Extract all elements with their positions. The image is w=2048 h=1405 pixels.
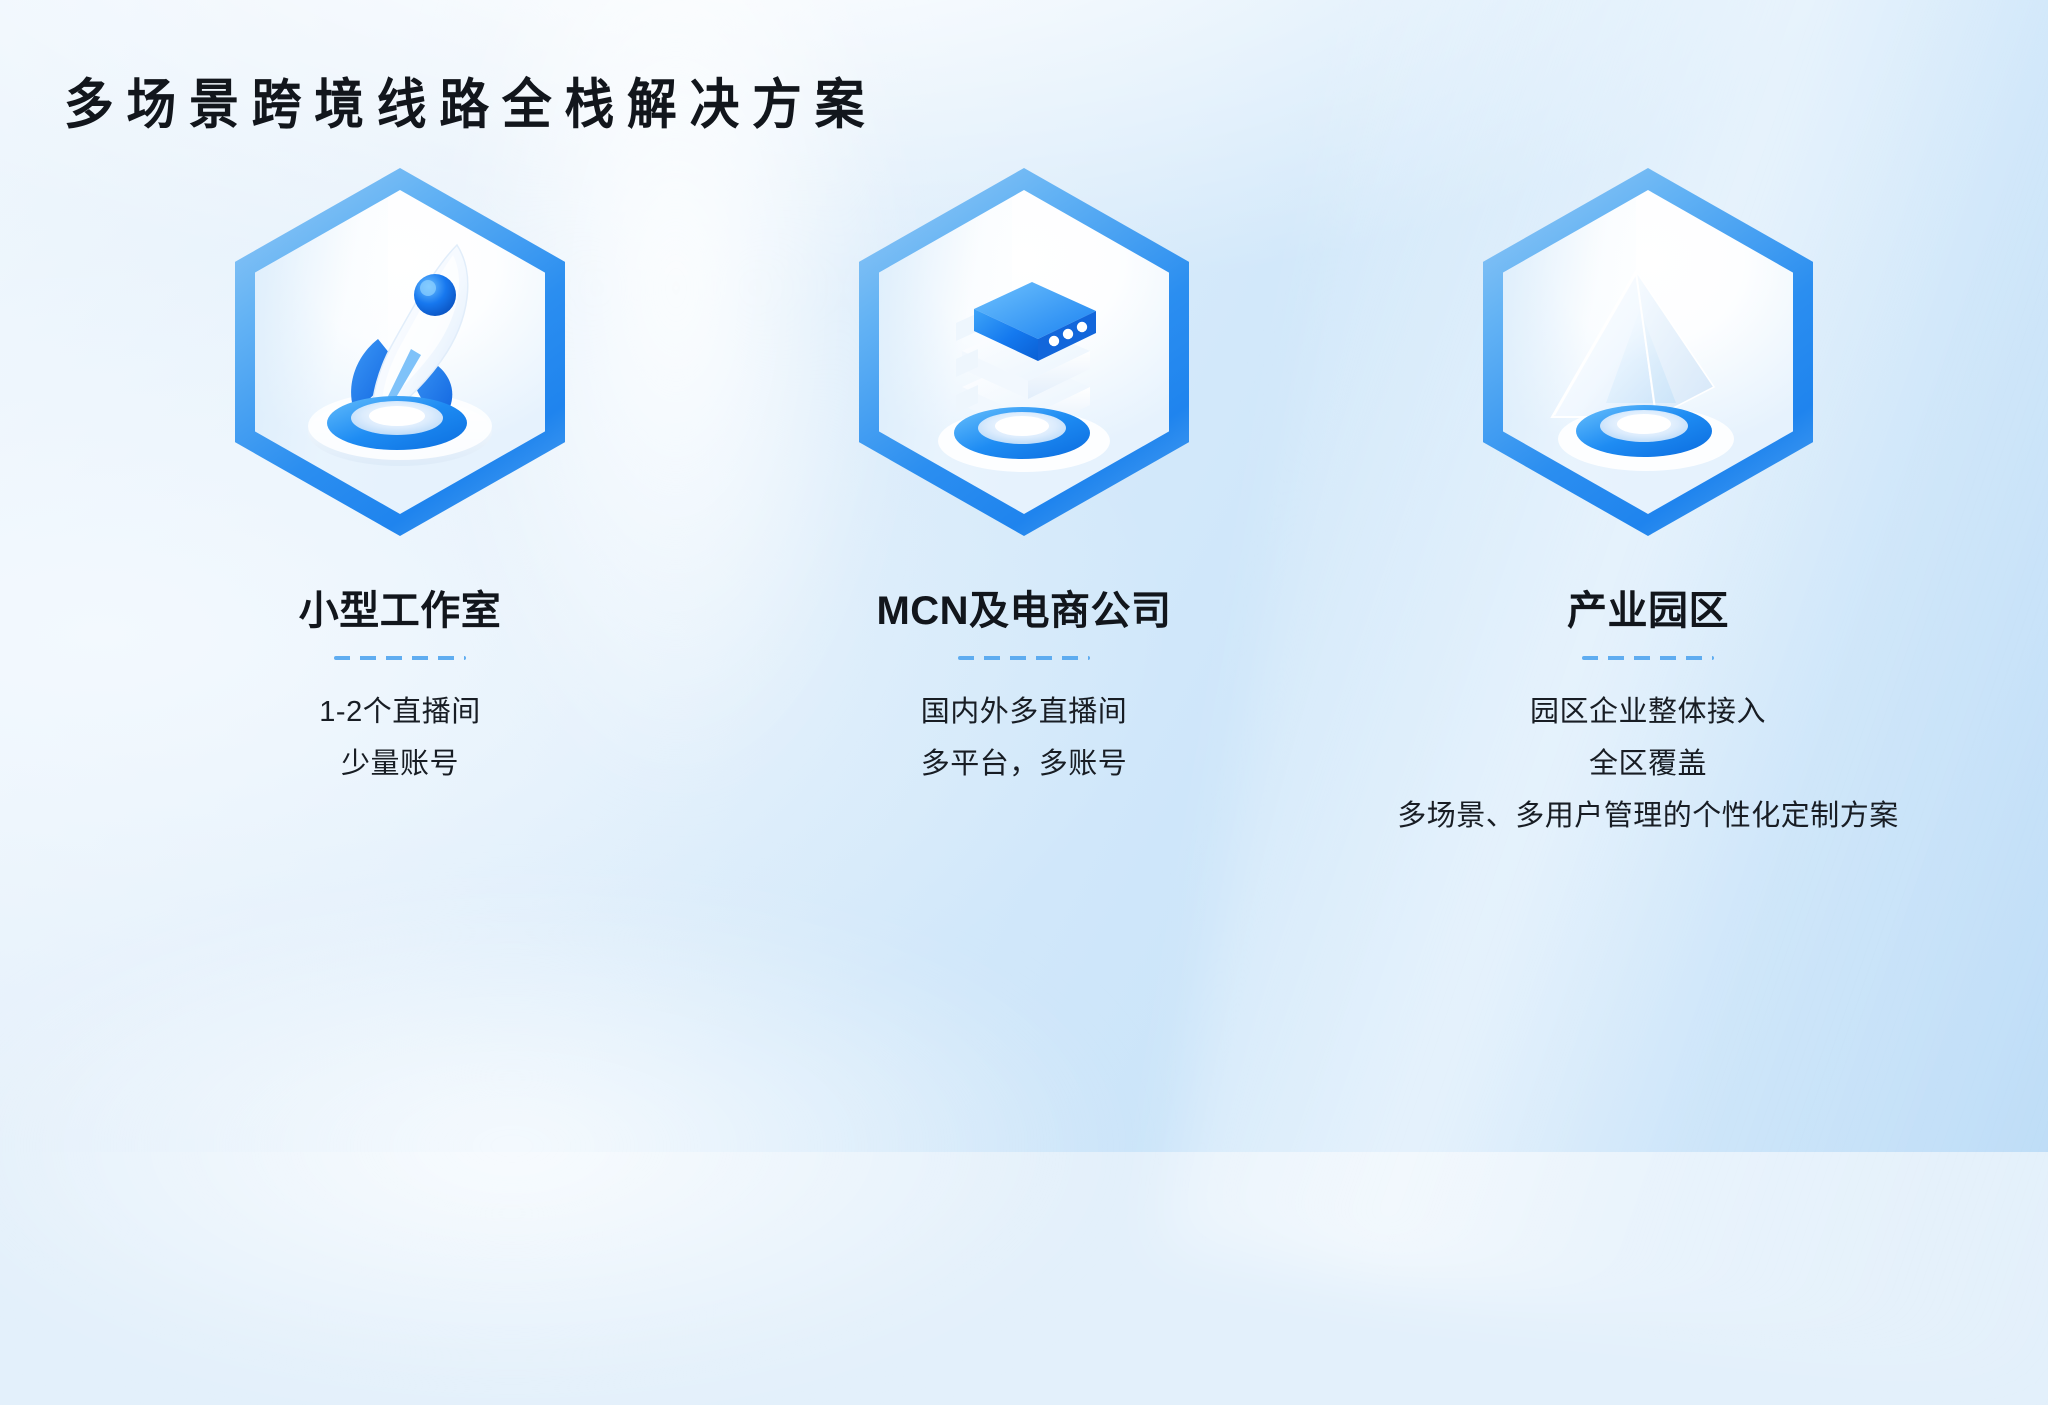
card-line: 少量账号: [319, 738, 480, 790]
page-title: 多场景跨境线路全栈解决方案: [64, 60, 877, 139]
card-description: 园区企业整体接入 全区覆盖 多场景、多用户管理的个性化定制方案: [1268, 686, 2028, 842]
solution-card[interactable]: 产业园区 园区企业整体接入 全区覆盖 多场景、多用户管理的个性化定制方案: [1368, 168, 1928, 842]
solution-card[interactable]: 小型工作室 1-2个直播间 少量账号: [120, 168, 680, 842]
card-divider: [1582, 656, 1714, 660]
hexagon-badge: [859, 168, 1189, 536]
card-title: 产业园区: [1567, 578, 1729, 636]
card-line: 多场景、多用户管理的个性化定制方案: [1268, 790, 2028, 842]
card-divider: [958, 656, 1090, 660]
hexagon-badge: [235, 168, 565, 536]
card-description: 国内外多直播间 多平台，多账号: [921, 686, 1128, 790]
card-description: 1-2个直播间 少量账号: [319, 686, 480, 790]
card-line: 1-2个直播间: [319, 686, 480, 738]
card-line: 多平台，多账号: [921, 738, 1128, 790]
background-glow-bottom: [0, 887, 1126, 1405]
card-divider: [334, 656, 466, 660]
card-line: 全区覆盖: [1268, 738, 2028, 790]
pyramid-icon: [1483, 168, 1813, 536]
card-line: 园区企业整体接入: [1268, 686, 2028, 738]
hexagon-badge: [1483, 168, 1813, 536]
rocket-icon: [235, 168, 565, 536]
solution-card[interactable]: MCN及电商公司 国内外多直播间 多平台，多账号: [744, 168, 1304, 842]
card-title: 小型工作室: [299, 578, 502, 636]
server-stack-icon: [859, 168, 1189, 536]
solution-card-list: 小型工作室 1-2个直播间 少量账号: [0, 168, 2048, 842]
card-line: 国内外多直播间: [921, 686, 1128, 738]
card-title: MCN及电商公司: [876, 578, 1171, 636]
